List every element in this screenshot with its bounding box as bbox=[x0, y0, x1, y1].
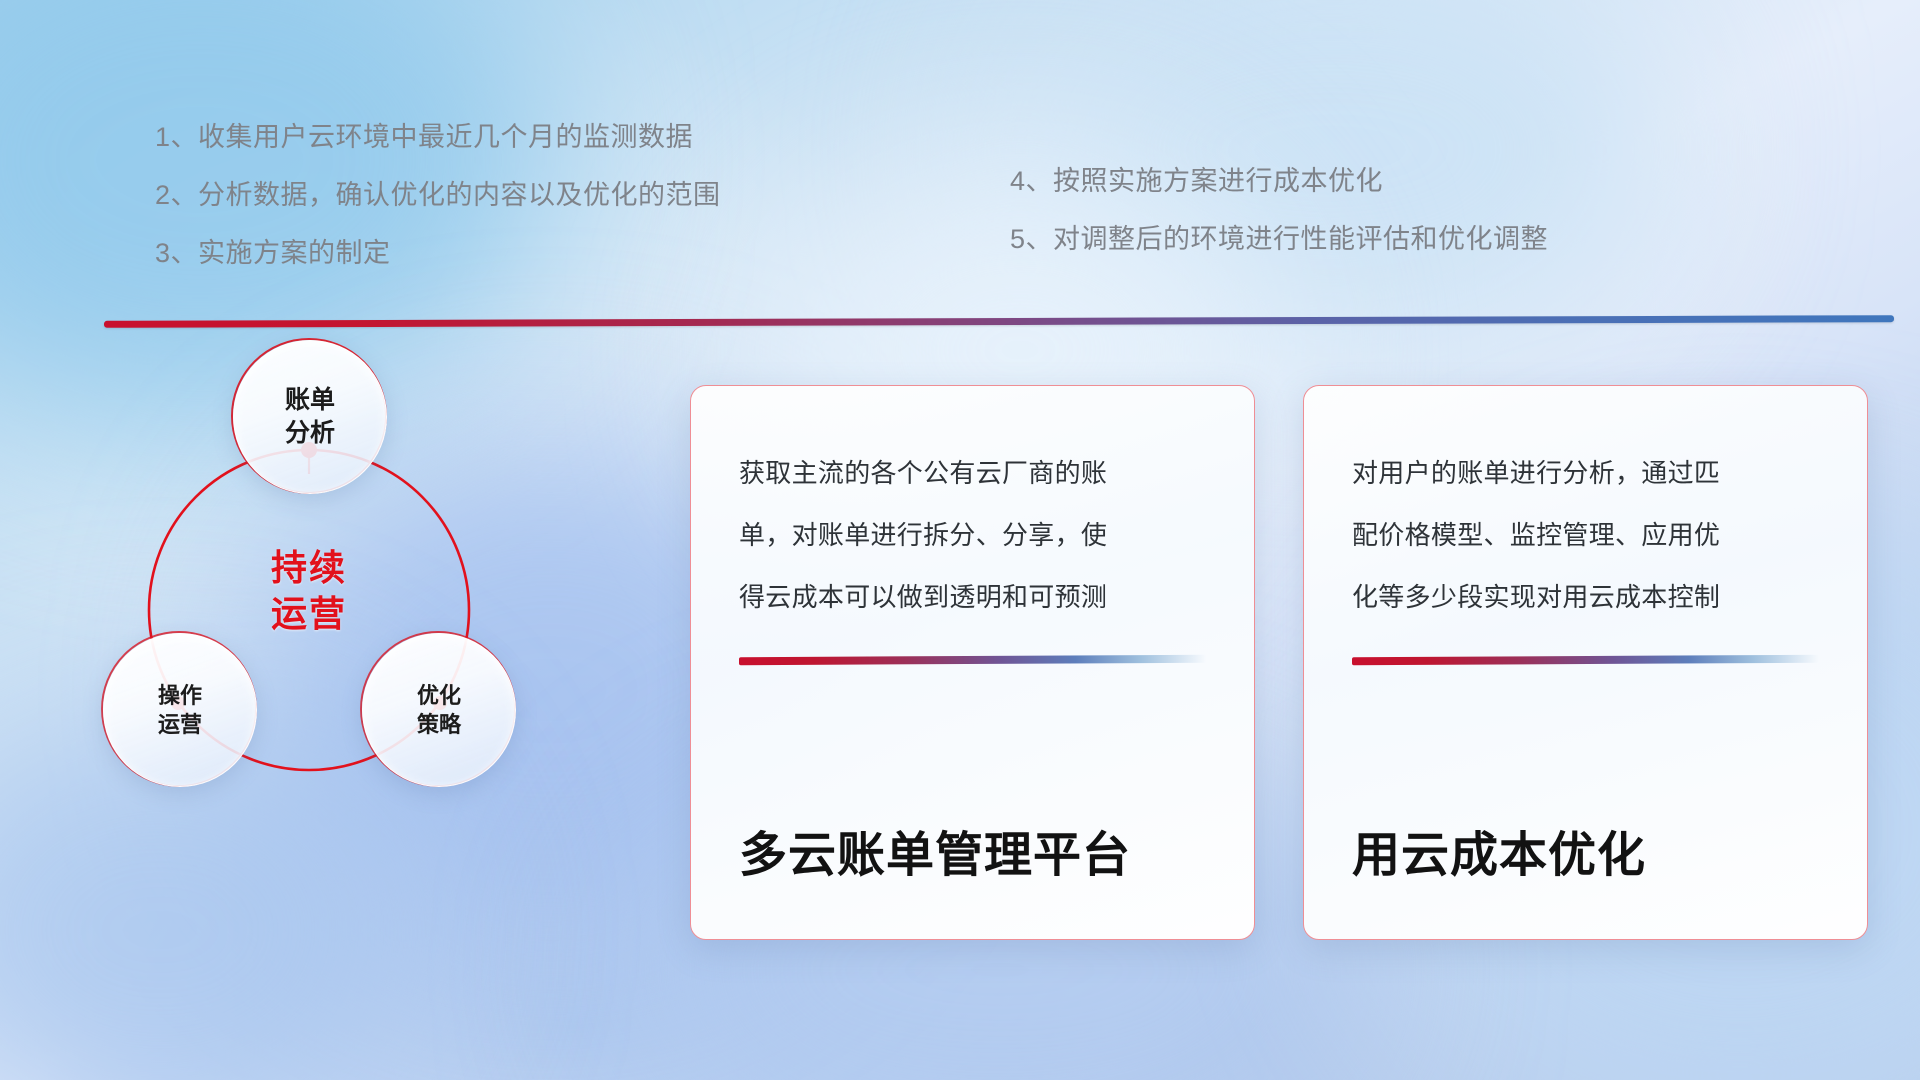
diagram-center-label-line1: 持续 bbox=[224, 545, 394, 591]
diagram-center-label-line2: 运营 bbox=[224, 591, 394, 637]
info-card-cloud-cost-optimization[interactable]: 对用户的账单进行分析，通过匹 配价格模型、监控管理、应用优 化等多少段实现对用云… bbox=[1303, 385, 1868, 940]
diagram-node-label-line1: 优化 bbox=[417, 681, 461, 710]
info-card-body-line: 对用户的账单进行分析，通过匹 bbox=[1352, 442, 1819, 504]
info-card-body-line: 获取主流的各个公有云厂商的账 bbox=[739, 442, 1206, 504]
step-item: 4、按照实施方案进行成本优化 bbox=[1010, 152, 1548, 210]
info-card-multi-cloud-billing-platform[interactable]: 获取主流的各个公有云厂商的账 单，对账单进行拆分、分享，使 得云成本可以做到透明… bbox=[690, 385, 1255, 940]
step-item: 2、分析数据，确认优化的内容以及优化的范围 bbox=[155, 166, 721, 224]
info-card-title: 多云账单管理平台 bbox=[739, 815, 1206, 885]
steps-list-left: 1、收集用户云环境中最近几个月的监测数据 2、分析数据，确认优化的内容以及优化的… bbox=[155, 108, 721, 282]
diagram-center-label: 持续 运营 bbox=[224, 545, 394, 637]
info-card-title: 用云成本优化 bbox=[1352, 815, 1819, 885]
diagram-node-optimization[interactable]: 优化 策略 bbox=[362, 633, 516, 787]
info-card-body-line: 化等多少段实现对用云成本控制 bbox=[1352, 566, 1819, 628]
diagram-node-label-line2: 运营 bbox=[158, 710, 202, 739]
steps-list-right: 4、按照实施方案进行成本优化 5、对调整后的环境进行性能评估和优化调整 bbox=[1010, 152, 1548, 268]
diagram-node-label-line2: 策略 bbox=[417, 710, 461, 739]
diagram-node-label-line1: 操作 bbox=[158, 681, 202, 710]
diagram-node-operations[interactable]: 操作 运营 bbox=[103, 633, 257, 787]
step-item: 5、对调整后的环境进行性能评估和优化调整 bbox=[1010, 210, 1548, 268]
diagram-node-label-line1: 账单 bbox=[285, 384, 335, 417]
step-item: 1、收集用户云环境中最近几个月的监测数据 bbox=[155, 108, 721, 166]
info-card-divider bbox=[739, 655, 1206, 665]
info-card-body-line: 配价格模型、监控管理、应用优 bbox=[1352, 504, 1819, 566]
continuous-operations-diagram: 账单 分析 操作 运营 优化 策略 持续 运营 bbox=[100, 340, 570, 960]
info-card-body: 对用户的账单进行分析，通过匹 配价格模型、监控管理、应用优 化等多少段实现对用云… bbox=[1352, 442, 1819, 628]
section-divider-rule bbox=[104, 315, 1894, 328]
info-card-body: 获取主流的各个公有云厂商的账 单，对账单进行拆分、分享，使 得云成本可以做到透明… bbox=[739, 442, 1206, 628]
step-item: 3、实施方案的制定 bbox=[155, 224, 721, 282]
diagram-node-label-line2: 分析 bbox=[285, 417, 335, 450]
info-card-body-line: 单，对账单进行拆分、分享，使 bbox=[739, 504, 1206, 566]
diagram-node-billing-analysis[interactable]: 账单 分析 bbox=[233, 340, 387, 494]
info-card-divider bbox=[1352, 655, 1819, 665]
slide-canvas: 1、收集用户云环境中最近几个月的监测数据 2、分析数据，确认优化的内容以及优化的… bbox=[0, 0, 1920, 1080]
info-card-body-line: 得云成本可以做到透明和可预测 bbox=[739, 566, 1206, 628]
